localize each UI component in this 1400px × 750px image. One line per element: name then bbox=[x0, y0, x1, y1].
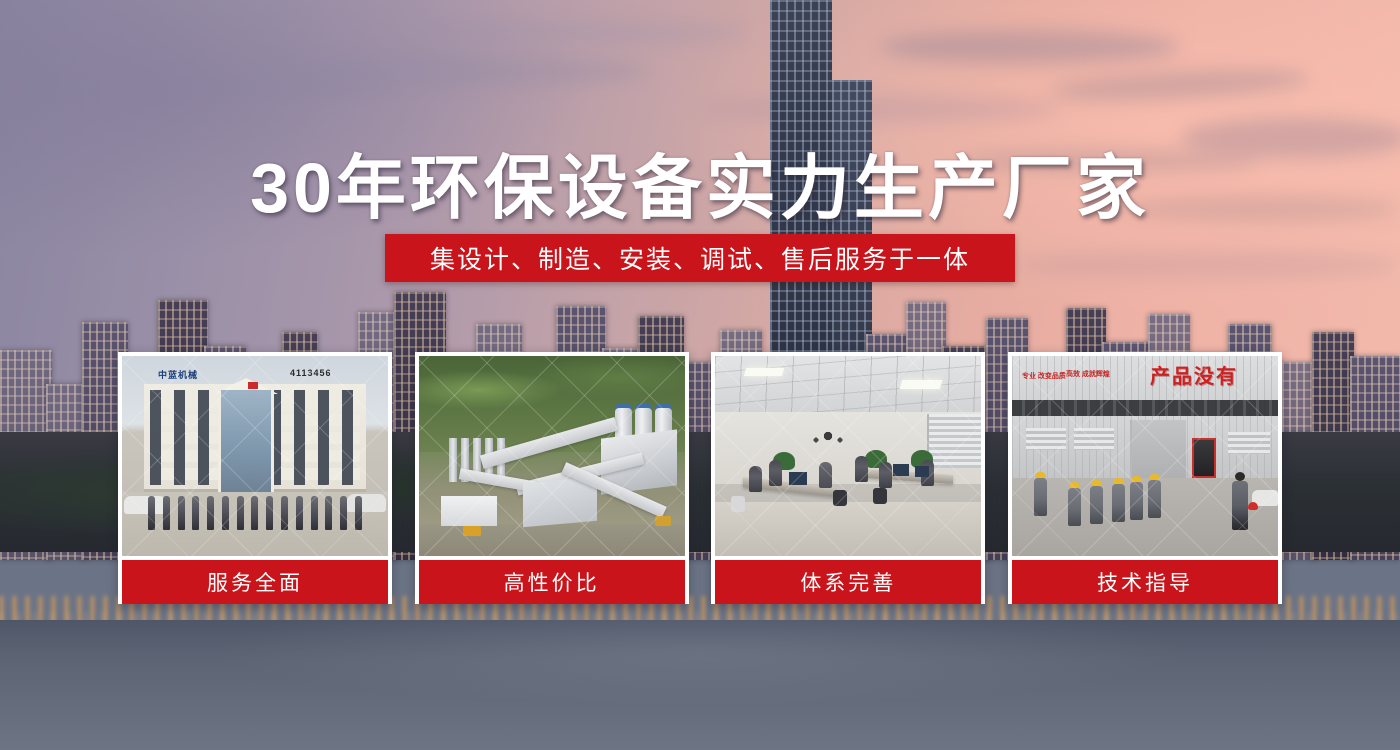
feature-card[interactable]: 专业 改变品质 高效 成就辉煌 产品没有 技术指导 bbox=[1008, 352, 1282, 604]
feature-card-list: 中蓝机械 4113456 服务全面 bbox=[118, 352, 1282, 604]
card-photo-plant-aerial bbox=[419, 356, 685, 556]
card-photo-factory-training: 专业 改变品质 高效 成就辉煌 产品没有 bbox=[1012, 356, 1278, 556]
factory-slogan-mid: 高效 成就辉煌 bbox=[1066, 370, 1110, 379]
wall-decal-icon bbox=[807, 420, 849, 450]
factory-signage: 产品没有 bbox=[1150, 360, 1238, 389]
factory-slogan-left: 专业 改变品质 bbox=[1022, 372, 1066, 381]
subtitle-text: 集设计、制造、安装、调试、售后服务于一体 bbox=[430, 240, 970, 276]
page-title: 30年环保设备实力生产厂家 bbox=[0, 132, 1400, 233]
card-photo-company-building: 中蓝机械 4113456 bbox=[122, 356, 388, 556]
red-helmet-icon bbox=[1248, 502, 1258, 510]
building-phone-number: 4113456 bbox=[290, 368, 332, 378]
promo-banner: 30年环保设备实力生产厂家 集设计、制造、安装、调试、售后服务于一体 中蓝机械 … bbox=[0, 0, 1400, 750]
building-signage: 中蓝机械 bbox=[158, 368, 198, 381]
card-label: 服务全面 bbox=[122, 560, 388, 604]
feature-card[interactable]: 高性价比 bbox=[415, 352, 689, 604]
feature-card[interactable]: 中蓝机械 4113456 服务全面 bbox=[118, 352, 392, 604]
flag-icon bbox=[248, 382, 258, 389]
card-label: 技术指导 bbox=[1012, 560, 1278, 604]
subtitle-banner: 集设计、制造、安装、调试、售后服务于一体 bbox=[385, 234, 1015, 282]
card-photo-office-interior bbox=[715, 356, 981, 556]
card-label: 体系完善 bbox=[715, 560, 981, 604]
feature-card[interactable]: 体系完善 bbox=[711, 352, 985, 604]
water-reflection bbox=[0, 620, 1400, 750]
card-label: 高性价比 bbox=[419, 560, 685, 604]
